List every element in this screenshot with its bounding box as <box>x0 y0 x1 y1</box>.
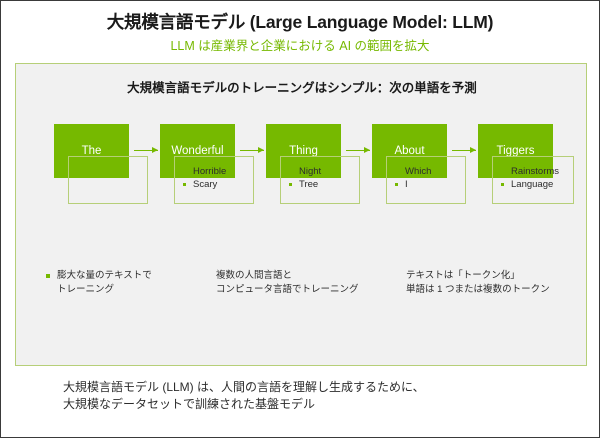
slide-root: 大規模言語モデル (Large Language Model: LLM) LLM… <box>1 1 599 437</box>
candidate-list-the <box>68 156 148 204</box>
list-item: Horrible <box>182 165 253 178</box>
candidate-list-tiggers: RainstormsLanguage <box>492 156 574 204</box>
candidate-list-about: WhichI <box>386 156 466 204</box>
page-subtitle: LLM は産業界と企業における AI の範囲を拡大 <box>1 35 599 54</box>
candidate-list-thing: NightTree <box>280 156 360 204</box>
flow-arrow-4 <box>452 150 476 151</box>
candidate-list-items: NightTree <box>288 165 359 191</box>
annotation-note-2: 複数の人間言語と コンピュータ言語でトレーニング <box>216 269 359 296</box>
page-title: 大規模言語モデル (Large Language Model: LLM) <box>1 9 599 34</box>
candidate-list-wonderful: HorribleScary <box>174 156 254 204</box>
flow-arrow-1 <box>134 150 158 151</box>
list-item: Rainstorms <box>500 165 573 178</box>
list-item: I <box>394 178 465 191</box>
diagram-panel: 大規模言語モデルのトレーニングはシンプル：次の単語を予測 TheWonderfu… <box>15 63 587 366</box>
summary-text: 大規模言語モデル (LLM) は、人間の言語を理解し生成するために、 大規模なデ… <box>63 379 425 413</box>
candidate-list-items: RainstormsLanguage <box>500 165 573 191</box>
annotation-note-3: テキストは「トークン化」 単語は 1 つまたは複数のトークン <box>406 269 550 296</box>
flow-arrow-2 <box>240 150 264 151</box>
candidate-list-items: HorribleScary <box>182 165 253 191</box>
list-item: Language <box>500 178 573 191</box>
annotation-note-1: 膨大な量のテキストで トレーニング <box>46 269 152 296</box>
flow-arrow-3 <box>346 150 370 151</box>
list-item: Scary <box>182 178 253 191</box>
token-flow-diagram: TheWonderfulHorribleScaryThingNightTreeA… <box>16 64 588 367</box>
list-item: Night <box>288 165 359 178</box>
list-item: Tree <box>288 178 359 191</box>
list-item: Which <box>394 165 465 178</box>
candidate-list-items: WhichI <box>394 165 465 191</box>
